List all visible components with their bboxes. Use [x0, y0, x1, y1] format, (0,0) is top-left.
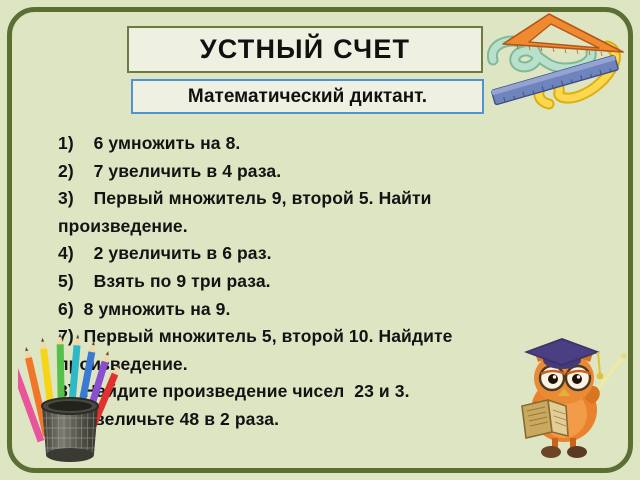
owl-professor-clipart [508, 330, 628, 462]
task-line: 6) 8 умножить на 9. [58, 296, 598, 324]
task-line: 4) 2 увеличить в 6 раз. [58, 240, 598, 268]
page-subtitle: Математический диктант. [188, 87, 427, 106]
rulers-clipart [487, 8, 633, 110]
title-box: УСТНЫЙ СЧЕТ [127, 26, 483, 73]
task-line-continuation: произведение. [58, 213, 598, 241]
slide-canvas: УСТНЫЙ СЧЕТ Математический диктант. 1) 6… [0, 0, 640, 480]
task-line: 5) Взять по 9 три раза. [58, 268, 598, 296]
task-line: 2) 7 увеличить в 4 раза. [58, 158, 598, 186]
page-title: УСТНЫЙ СЧЕТ [200, 36, 410, 63]
book-icon [522, 400, 568, 438]
subtitle-box: Математический диктант. [131, 79, 484, 114]
cup-icon [42, 398, 98, 462]
task-line: 1) 6 умножить на 8. [58, 130, 598, 158]
pencil-cup-clipart [18, 330, 122, 470]
task-line: 3) Первый множитель 9, второй 5. Найти [58, 185, 598, 213]
